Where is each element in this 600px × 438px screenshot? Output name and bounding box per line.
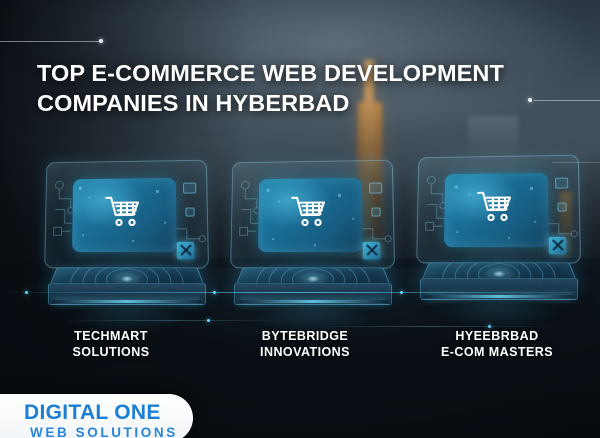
chip-decor-3 [555,178,568,189]
laptop-edge-glow-3 [424,295,574,298]
chip-decor-2 [369,183,382,194]
logo-secondary-text: WEB SOLUTIONS [30,425,178,438]
poster-canvas: TOP E-COMMERCE WEB DEVELOPMENT COMPANIES… [0,0,600,438]
decor-dot-top-left [99,39,103,43]
laptop-display-1 [72,178,177,252]
shopping-cart-icon-1 [104,195,144,236]
connector-dot-4 [207,319,210,322]
connector-line-lower-2 [300,326,560,327]
decor-line-mid-right [552,162,600,163]
connector-line-lower [60,320,290,321]
laptop-base-3 [410,251,588,315]
shopping-cart-icon-2 [290,195,330,236]
page-title: TOP E-COMMERCE WEB DEVELOPMENT COMPANIES… [37,58,567,118]
laptop-display-3 [444,173,549,247]
decor-line-top-left [0,41,100,42]
laptop-base-1 [38,256,216,320]
company-label-2: BYTEBRIDGE INNOVATIONS [210,329,400,360]
company-label-3: HYEEBRBAD E-COM MASTERS [402,329,592,360]
connector-dot-1 [25,291,28,294]
laptop-display-2 [258,178,363,252]
chip-decor-2b [371,207,380,216]
laptop-screen-3 [416,155,581,264]
laptop-edge-glow-2 [238,300,388,303]
chip-decor-1b [185,207,194,216]
connector-dot-3 [400,291,403,294]
chip-decor-1 [183,183,196,194]
laptop-screen-2 [230,160,395,269]
laptop-base-2 [224,256,402,320]
connector-line-main [0,292,600,293]
chip-decor-3b [557,202,566,211]
connector-dot-5 [488,325,491,328]
company-card-3[interactable] [410,155,588,315]
logo-badge[interactable]: DIGITAL ONE WEB SOLUTIONS [0,394,193,438]
company-label-1: TECHMART SOLUTIONS [16,329,206,360]
company-card-2[interactable] [224,160,402,320]
laptop-edge-glow-1 [52,300,202,303]
connector-dot-2 [213,291,216,294]
company-card-1[interactable] [38,160,216,320]
laptop-screen-1 [44,160,209,269]
shopping-cart-icon-3 [476,190,516,231]
logo-primary-text: DIGITAL ONE [24,401,161,425]
